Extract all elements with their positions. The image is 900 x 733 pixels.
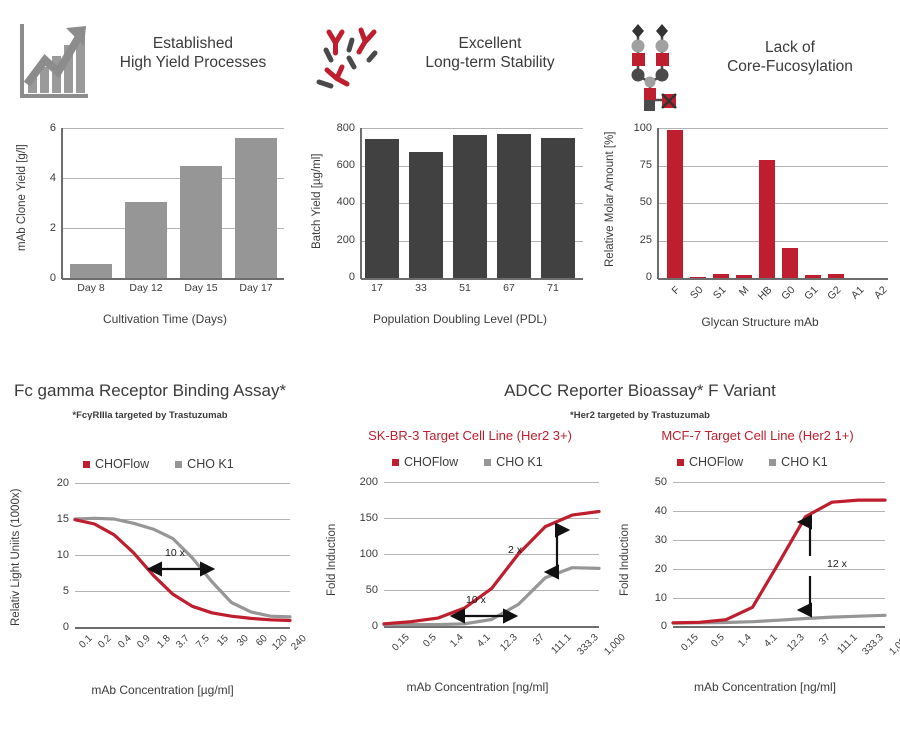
bar: [713, 274, 729, 279]
line-plot: [673, 482, 885, 630]
y-tick: 15: [43, 513, 69, 525]
section-footnote-fc-gamma: *FcγRIIIa targeted by Trastuzumab: [0, 410, 300, 421]
y-tick: 50: [639, 476, 667, 488]
bar: [235, 138, 277, 278]
y-tick: 100: [622, 122, 652, 134]
y-tick: 75: [622, 159, 652, 171]
y-tick: 0: [43, 621, 69, 633]
legend-label: CHOFlow: [404, 455, 458, 469]
chart-subtitle: MCF-7 Target Cell Line (Her2 1+): [615, 428, 900, 443]
legend: CHOFlow CHO K1: [83, 457, 234, 471]
annotation-10x-label: 10 x: [466, 594, 486, 606]
legend-swatch-gray: [769, 459, 776, 466]
y-tick: 50: [622, 196, 652, 208]
annotation-10x-arrow: [448, 608, 520, 624]
bar: [667, 130, 683, 279]
x-axis-line: [361, 278, 583, 280]
y-tick: 400: [325, 196, 355, 208]
x-tick: Day 12: [117, 282, 175, 294]
annotation-12x-arrow-down: [801, 574, 819, 616]
annotation-2x-arrow: [548, 524, 566, 578]
x-axis-title: mAb Concentration [ng/ml]: [345, 680, 610, 694]
chart-adcc-mcf-7: MCF-7 Target Cell Line (Her2 1+) CHOFlow…: [615, 428, 900, 728]
legend-swatch-red: [677, 459, 684, 466]
x-axis-title: mAb Concentration [ng/ml]: [635, 680, 895, 694]
bar: [782, 248, 798, 278]
bar: [690, 277, 706, 279]
annotation-12x-arrow-up: [801, 516, 819, 558]
x-tick: M: [722, 284, 752, 314]
bar: [759, 160, 775, 279]
bar: [497, 134, 531, 278]
x-tick: Day 17: [227, 282, 285, 294]
bar: [736, 275, 752, 278]
x-tick: G1: [791, 284, 821, 314]
legend: CHOFlow CHO K1: [677, 455, 828, 469]
legend-swatch-red: [392, 459, 399, 466]
section-title-adcc: ADCC Reporter Bioassay* F Variant: [430, 381, 850, 401]
legend-swatch-gray: [175, 461, 182, 468]
y-tick: 100: [346, 548, 378, 560]
legend-label: CHOFlow: [689, 455, 743, 469]
chart-mab-clone-yield: mAb Clone Yield [g/l] 6 4 2 0 Day 8 Day …: [10, 112, 295, 337]
panel-title-line2: Core-Fucosylation: [700, 57, 880, 76]
y-tick: 5: [43, 585, 69, 597]
x-axis-line: [658, 278, 888, 280]
x-tick: 71: [527, 282, 579, 294]
x-tick: HB: [745, 284, 775, 314]
y-tick: 10: [639, 592, 667, 604]
panel-title-line2: High Yield Processes: [98, 53, 288, 72]
y-tick: 10: [43, 549, 69, 561]
legend-item-choflow: CHOFlow: [392, 455, 458, 469]
bar-chart-growth-icon: [18, 22, 90, 100]
x-tick: G2: [814, 284, 844, 314]
bar: [125, 202, 167, 278]
panel-title-line1: Excellent: [395, 34, 585, 53]
legend-label: CHO K1: [187, 457, 234, 471]
panel-title-line1: Lack of: [700, 38, 880, 57]
annotation-10x-arrow: [145, 561, 217, 577]
panel-title-line1: Established: [98, 34, 288, 53]
panel-header-fucosylation: Lack of Core-Fucosylation: [600, 14, 890, 114]
y-tick: 200: [325, 234, 355, 246]
y-tick: 150: [346, 512, 378, 524]
panel-title-line2: Long-term Stability: [395, 53, 585, 72]
y-tick: 20: [43, 477, 69, 489]
legend-item-chok1: CHO K1: [175, 457, 234, 471]
legend-label: CHO K1: [781, 455, 828, 469]
section-footnote-adcc: *Her2 targeted by Trastuzumab: [430, 410, 850, 421]
bar: [828, 274, 844, 279]
legend-item-chok1: CHO K1: [484, 455, 543, 469]
legend-swatch-red: [83, 461, 90, 468]
legend: CHOFlow CHO K1: [392, 455, 543, 469]
y-axis-title: Relativ Light Uniits (1000x): [9, 477, 24, 637]
bar: [409, 152, 443, 278]
legend-label: CHOFlow: [95, 457, 149, 471]
bar: [180, 166, 222, 279]
x-axis-title: mAb Concentration [µg/ml]: [30, 683, 295, 697]
y-tick: 800: [325, 122, 355, 134]
x-axis-line: [62, 278, 284, 280]
chart-batch-yield: Batch Yield [µg/ml] 800 600 400 200 0 17…: [305, 112, 595, 337]
chart-glycan-structure: Relative Molar Amount [%] 100 75 50 25 0…: [600, 112, 895, 337]
x-tick: F: [653, 284, 683, 314]
chart-subtitle: SK-BR-3 Target Cell Line (Her2 3+): [320, 428, 620, 443]
legend-item-choflow: CHOFlow: [83, 457, 149, 471]
y-axis-title: Batch Yield [µg/ml]: [311, 126, 323, 276]
legend-item-chok1: CHO K1: [769, 455, 828, 469]
panel-header-stability: Excellent Long-term Stability: [305, 14, 590, 114]
y-tick: 600: [325, 159, 355, 171]
y-axis-title: Fold Induction: [619, 500, 631, 620]
y-axis-title: mAb Clone Yield [g/l]: [16, 118, 28, 278]
bar: [365, 139, 399, 278]
y-axis-title: Relative Molar Amount [%]: [604, 112, 616, 287]
x-tick: S1: [699, 284, 729, 314]
bar: [805, 275, 821, 278]
x-tick: G0: [768, 284, 798, 314]
x-axis-title: Cultivation Time (Days): [40, 312, 290, 326]
bar: [70, 264, 112, 278]
x-tick: Day 15: [172, 282, 230, 294]
y-tick: 2: [32, 222, 56, 234]
y-tick: 0: [346, 620, 378, 632]
panel-header-established: Established High Yield Processes: [10, 14, 290, 114]
legend-label: CHO K1: [496, 455, 543, 469]
glycan-structure-icon: [618, 14, 698, 109]
y-tick: 6: [32, 122, 56, 134]
x-tick: S0: [676, 284, 706, 314]
y-tick: 0: [622, 271, 652, 283]
y-tick: 4: [32, 172, 56, 184]
x-axis-title: Population Doubling Level (PDL): [325, 312, 595, 326]
annotation-12x-label: 12 x: [827, 558, 847, 570]
y-tick: 30: [639, 534, 667, 546]
antibodies-icon: [309, 20, 389, 100]
legend-swatch-gray: [484, 459, 491, 466]
y-tick: 0: [32, 272, 56, 284]
y-tick: 0: [639, 620, 667, 632]
section-title-fc-gamma: Fc gamma Receptor Binding Assay*: [0, 381, 300, 401]
y-tick: 40: [639, 505, 667, 517]
chart-adcc-sk-br-3: SK-BR-3 Target Cell Line (Her2 3+) CHOFl…: [320, 428, 620, 728]
y-tick: 20: [639, 563, 667, 575]
y-tick: 200: [346, 476, 378, 488]
y-tick: 50: [346, 584, 378, 596]
bar: [453, 135, 487, 278]
y-tick: 25: [622, 234, 652, 246]
bar: [541, 138, 575, 278]
x-axis-title: Glycan Structure mAb: [630, 315, 890, 329]
legend-item-choflow: CHOFlow: [677, 455, 743, 469]
y-axis-title: Fold Induction: [326, 500, 338, 620]
chart-fc-gamma-receptor-binding: CHOFlow CHO K1 Relativ Light Uniits (100…: [5, 455, 305, 725]
x-tick: A2: [860, 284, 890, 314]
x-tick: A1: [837, 284, 867, 314]
annotation-2x-label: 2 x: [508, 544, 522, 556]
x-tick: Day 8: [62, 282, 120, 294]
annotation-10x-label: 10 x: [165, 547, 185, 559]
